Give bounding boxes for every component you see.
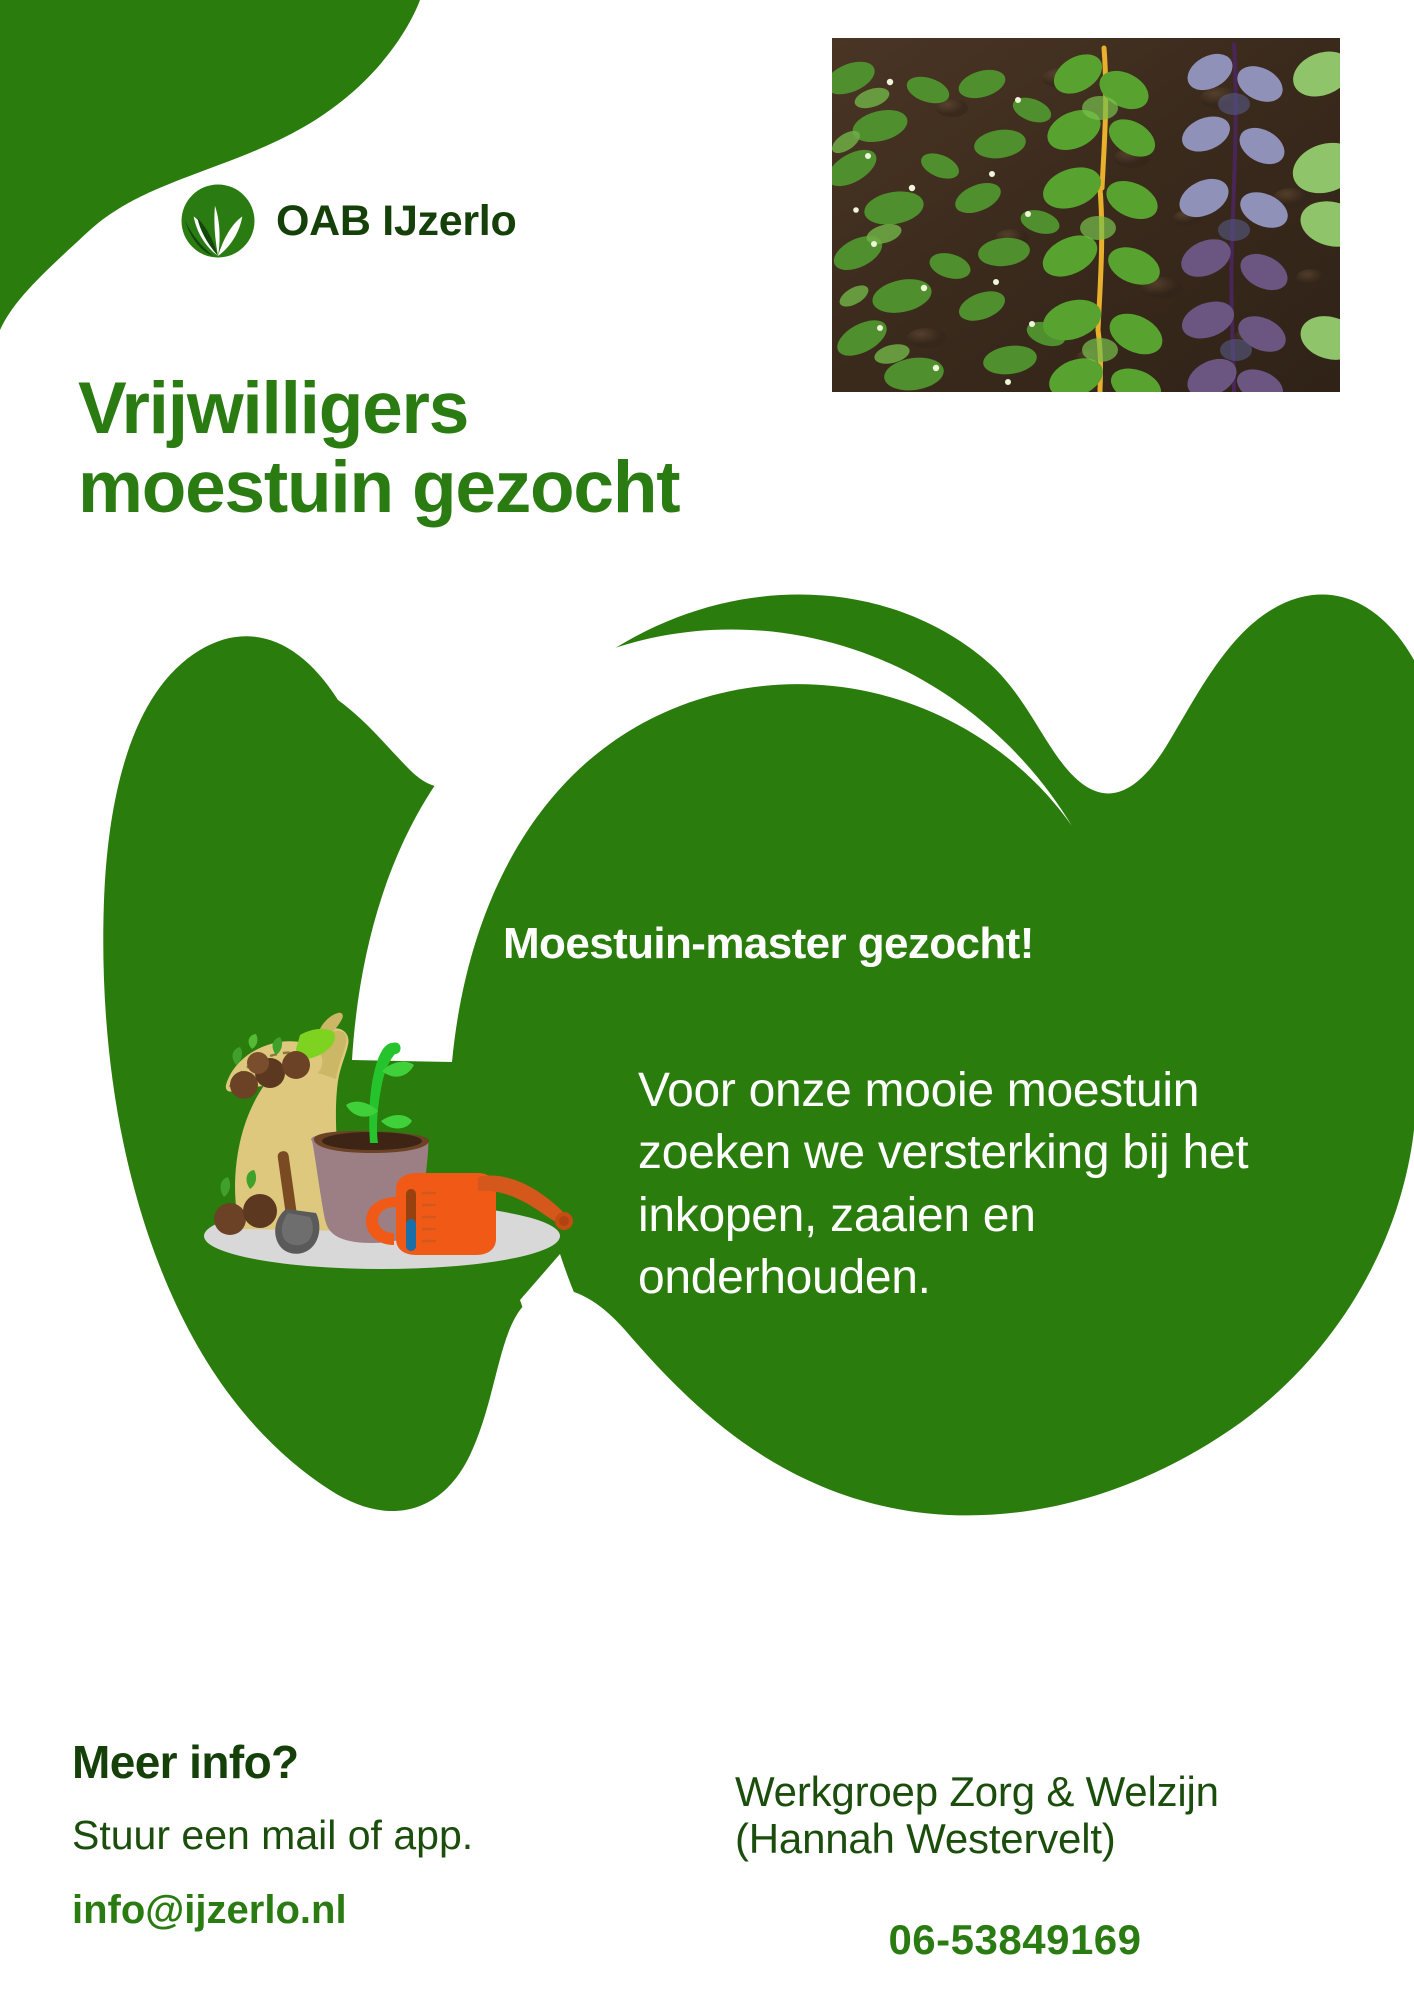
footer-left: Meer info? Stuur een mail of app. info@i… bbox=[72, 1738, 692, 1932]
footer-contact-instruction: Stuur een mail of app. bbox=[72, 1813, 692, 1858]
brand-logo-row: OAB IJzerlo bbox=[180, 183, 516, 259]
footer-phone-number[interactable]: 06-53849169 bbox=[735, 1916, 1365, 1964]
brand-name: OAB IJzerlo bbox=[276, 200, 516, 243]
page-title: Vrijwilligers moestuin gezocht bbox=[78, 370, 938, 528]
poster-root: OAB IJzerlo Vrijwilligers moestuin gezoc… bbox=[0, 0, 1414, 2000]
vegetable-garden-photo bbox=[832, 38, 1340, 392]
gardening-tools-illustration bbox=[182, 993, 582, 1278]
footer-more-info-title: Meer info? bbox=[72, 1738, 692, 1786]
top-left-corner-blob bbox=[0, 0, 420, 330]
panel-body: Voor onze mooie moestuin zoeken we verst… bbox=[638, 1060, 1318, 1310]
footer-email-link[interactable]: info@ijzerlo.nl bbox=[72, 1888, 692, 1932]
garden-photo-graphic bbox=[832, 38, 1340, 392]
panel-title: Moestuin-master gezocht! bbox=[503, 920, 1293, 968]
footer-workgroup-name: Werkgroep Zorg & Welzijn (Hannah Westerv… bbox=[735, 1768, 1365, 1862]
headline-line-2: moestuin gezocht bbox=[78, 449, 938, 528]
footer-right: Werkgroep Zorg & Welzijn (Hannah Westerv… bbox=[735, 1768, 1365, 1964]
grass-circle-logo-icon bbox=[180, 183, 256, 259]
headline-line-1: Vrijwilligers bbox=[78, 368, 468, 449]
